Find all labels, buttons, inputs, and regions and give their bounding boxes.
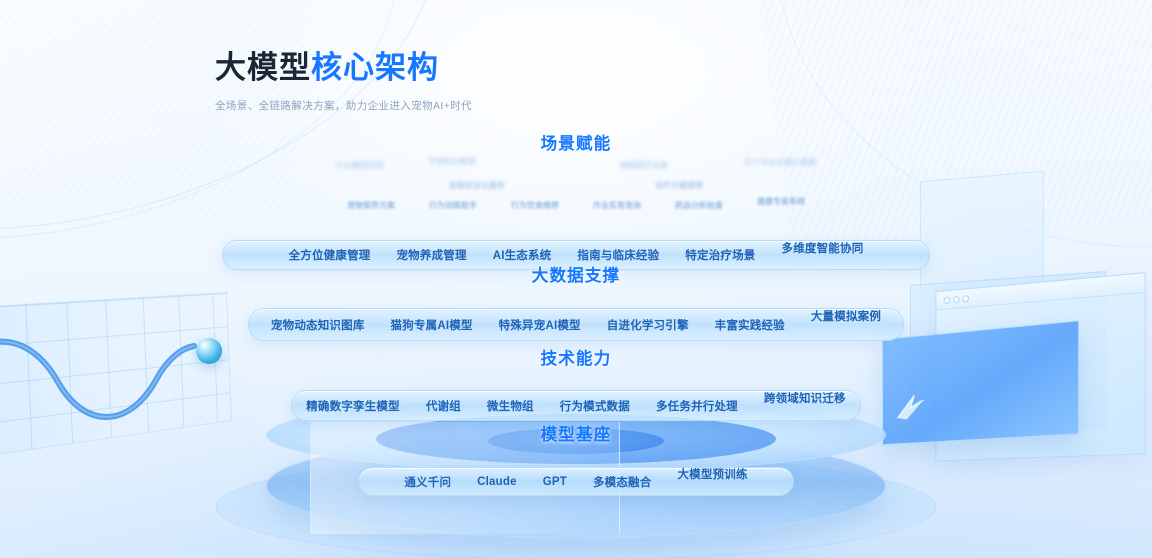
depth-label: 远程定诊云服务	[449, 180, 505, 191]
layer-scene-depth-row-1: 行业模型定制 专家知识图谱 精细医疗设备 百个专业化细分领域	[0, 156, 1152, 175]
layer-item[interactable]: 多任务并行处理	[643, 398, 751, 414]
layer-item[interactable]: 大模型预训练	[664, 466, 760, 482]
depth-label: 药品分析检查	[675, 200, 723, 211]
depth-label: 诊疗方案推荐	[655, 180, 703, 191]
layer-item[interactable]: 丰富实践经验	[702, 317, 798, 333]
layer-model-band: 通义千问 Claude GPT 多模态融合 大模型预训练	[358, 467, 794, 496]
layer-item[interactable]: 指南与临床经验	[564, 247, 672, 263]
layer-scene: 场景赋能 行业模型定制 专家知识图谱 精细医疗设备 百个专业化细分领域 远程定诊…	[0, 130, 1152, 184]
layer-data-band: 宠物动态知识图库 猫狗专属AI模型 特殊异宠AI模型 自进化学习引擎 丰富实践经…	[248, 308, 904, 341]
layer-data-items: 宠物动态知识图库 猫狗专属AI模型 特殊异宠AI模型 自进化学习引擎 丰富实践经…	[249, 317, 903, 333]
layer-item[interactable]: 宠物动态知识图库	[258, 317, 378, 333]
page-title-main: 大模型	[215, 50, 311, 85]
architecture-poster: 大模型核心架构 全场景、全链路解决方案，助力企业进入宠物AI+时代	[0, 0, 1152, 558]
layer-item[interactable]: Claude	[464, 476, 530, 488]
layer-item[interactable]: 多模态融合	[580, 474, 665, 490]
layer-item[interactable]: 行为模式数据	[547, 398, 643, 414]
layer-item[interactable]: 特定治疗场景	[672, 247, 768, 263]
layer-item[interactable]: 特殊异宠AI模型	[486, 317, 594, 333]
depth-label: 精细医疗设备	[620, 160, 668, 171]
layer-item[interactable]: 代谢组	[413, 398, 474, 414]
layer-data: 大数据支撑 宠物动态知识图库 猫狗专属AI模型 特殊异宠AI模型 自进化学习引擎…	[0, 262, 1152, 319]
depth-label: 行为饮食推荐	[511, 200, 559, 211]
depth-label: 行为训练助手	[429, 200, 477, 211]
depth-label: 作业实育咨询	[593, 200, 641, 211]
depth-label: 宠物营养方案	[347, 200, 395, 211]
layer-model: 模型基座 通义千问 Claude GPT 多模态融合 大模型预训练	[0, 421, 1152, 474]
layer-scene-depth-row-2: 远程定诊云服务 诊疗方案推荐	[0, 180, 1152, 191]
layer-item[interactable]: 大量模拟案例	[798, 308, 894, 324]
layer-tech-band: 精确数字孪生模型 代谢组 微生物组 行为模式数据 多任务并行处理 跨领域知识迁移	[291, 390, 861, 421]
layer-data-title: 大数据支撑	[0, 262, 1152, 286]
layer-item[interactable]: AI生态系统	[480, 247, 565, 263]
depth-label: 百个专业化细分领域	[744, 157, 816, 168]
page-title: 大模型核心架构	[215, 50, 472, 87]
layer-scene-depth-row-3: 宠物营养方案 行为训练助手 行为饮食推荐 作业实育咨询 药品分析检查 健康专家系…	[0, 196, 1152, 214]
page-subtitle: 全场景、全链路解决方案，助力企业进入宠物AI+时代	[215, 98, 472, 113]
layer-item[interactable]: 微生物组	[474, 398, 547, 414]
layer-item[interactable]: 通义千问	[391, 474, 464, 490]
layer-scene-title: 场景赋能	[0, 130, 1152, 154]
depth-label: 行业模型定制	[336, 160, 384, 171]
depth-label: 专家知识图谱	[428, 156, 476, 167]
layer-item[interactable]: 多维度智能协同	[769, 240, 877, 256]
layer-item[interactable]: 宠物养成管理	[383, 247, 479, 263]
layer-scene-items: 全方位健康管理 宠物养成管理 AI生态系统 指南与临床经验 特定治疗场景 多维度…	[223, 247, 929, 263]
layer-model-title: 模型基座	[0, 421, 1152, 445]
layer-tech: 技术能力 精确数字孪生模型 代谢组 微生物组 行为模式数据 多任务并行处理 跨领…	[0, 345, 1152, 400]
poster-header: 大模型核心架构 全场景、全链路解决方案，助力企业进入宠物AI+时代	[215, 50, 472, 113]
layer-item[interactable]: 全方位健康管理	[276, 247, 384, 263]
layer-model-items: 通义千问 Claude GPT 多模态融合 大模型预训练	[359, 474, 793, 490]
page-title-accent: 核心架构	[311, 50, 439, 85]
layer-item[interactable]: 猫狗专属AI模型	[378, 317, 486, 333]
layer-tech-items: 精确数字孪生模型 代谢组 微生物组 行为模式数据 多任务并行处理 跨领域知识迁移	[292, 398, 860, 414]
hatch-pattern-top-left	[0, 0, 312, 229]
layer-tech-title: 技术能力	[0, 345, 1152, 369]
layer-item[interactable]: 精确数字孪生模型	[293, 398, 413, 414]
depth-label: 健康专家系统	[757, 196, 805, 207]
layer-item[interactable]: 跨领域知识迁移	[751, 390, 859, 406]
layer-item[interactable]: 自进化学习引擎	[594, 317, 702, 333]
layer-item[interactable]: GPT	[530, 476, 580, 488]
